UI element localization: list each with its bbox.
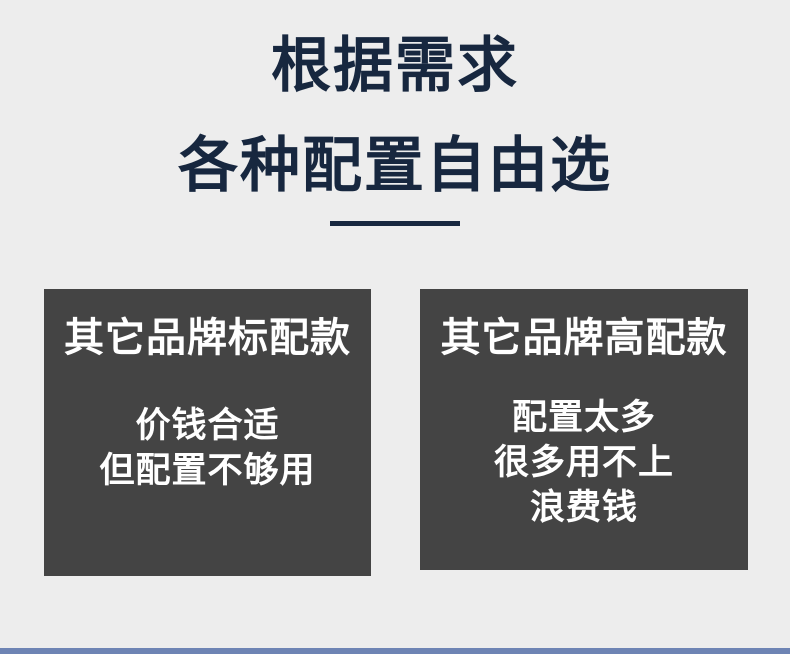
card-body-line: 很多用不上 (430, 441, 738, 486)
card-other-brand-standard[interactable]: 其它品牌标配款 价钱合适 但配置不够用 (44, 289, 371, 576)
card-body-line: 浪费钱 (430, 486, 738, 531)
promo-page: 根据需求 各种配置自由选 其它品牌标配款 价钱合适 但配置不够用 其它品牌高配款… (0, 0, 790, 654)
card-body-line: 配置太多 (430, 396, 738, 441)
card-other-brand-premium[interactable]: 其它品牌高配款 配置太多 很多用不上 浪费钱 (420, 289, 748, 570)
headline-line-1: 根据需求 (0, 36, 790, 96)
bottom-accent-strip (0, 648, 790, 654)
card-heading: 其它品牌高配款 (430, 315, 738, 362)
headline-line-2: 各种配置自由选 (0, 136, 790, 196)
card-body: 配置太多 很多用不上 浪费钱 (430, 396, 738, 530)
card-heading: 其它品牌标配款 (54, 315, 361, 362)
comparison-cards: 其它品牌标配款 价钱合适 但配置不够用 其它品牌高配款 配置太多 很多用不上 浪… (44, 289, 748, 576)
title-divider (330, 221, 460, 226)
card-body: 价钱合适 但配置不够用 (54, 404, 361, 494)
card-body-line: 价钱合适 (54, 404, 361, 449)
card-body-line: 但配置不够用 (54, 449, 361, 494)
